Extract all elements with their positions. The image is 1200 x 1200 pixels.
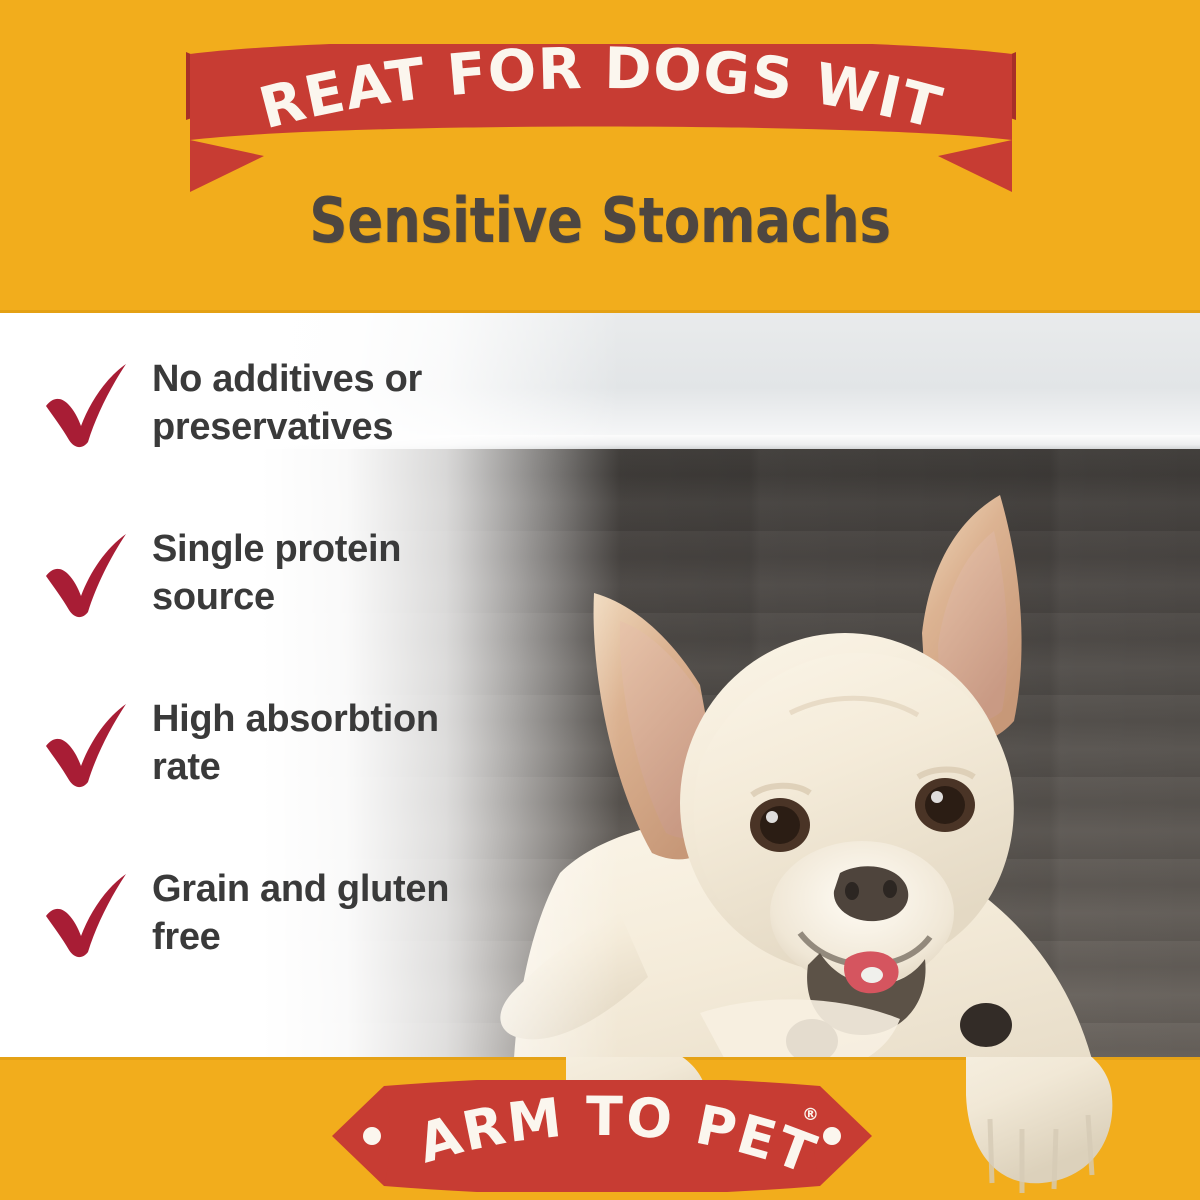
headline-ribbon: GREAT FOR DOGS WITH (186, 44, 1016, 196)
check-icon (38, 528, 134, 624)
page-subtitle: Sensitive Stomachs (84, 190, 1116, 252)
benefit-label: High absorbtion rate (134, 692, 508, 791)
logo-dot-right (823, 1127, 841, 1145)
benefits-list: No additives or preservatives Single pro… (38, 352, 508, 966)
check-icon (38, 698, 134, 794)
check-icon (38, 358, 134, 454)
benefit-item-3: High absorbtion rate (38, 692, 508, 796)
brand-logo-badge: FARM TO PET ® (332, 1080, 872, 1192)
benefit-item-2: Single protein source (38, 522, 508, 626)
registered-trademark-mark: ® (802, 1105, 819, 1125)
benefit-item-4: Grain and gluten free (38, 862, 508, 966)
logo-dot-left (363, 1127, 381, 1145)
benefit-label: No additives or preservatives (134, 352, 508, 451)
benefit-item-1: No additives or preservatives (38, 352, 508, 456)
check-icon (38, 868, 134, 964)
benefit-label: Single protein source (134, 522, 508, 621)
promo-poster: GREAT FOR DOGS WITH Sensitive Stomachs N… (0, 0, 1200, 1200)
benefit-label: Grain and gluten free (134, 862, 508, 961)
